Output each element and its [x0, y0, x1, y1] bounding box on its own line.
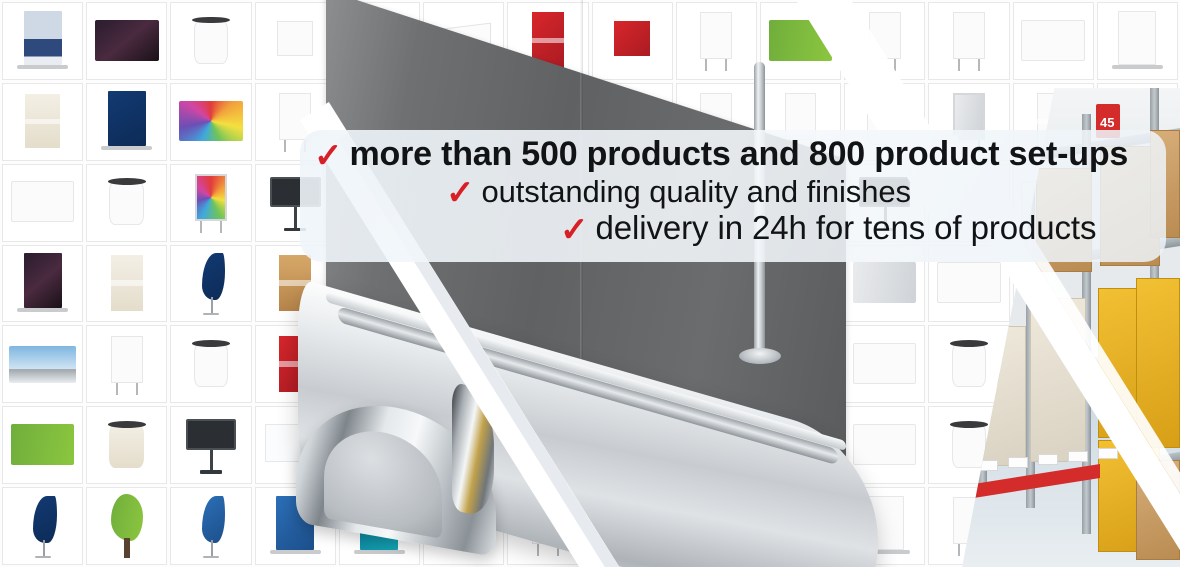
- product-tile-aircraft-backdrop-klm[interactable]: [2, 325, 83, 403]
- checkmark-icon-2: ✓: [446, 176, 475, 210]
- checkmark-icon-1: ✓: [314, 139, 343, 173]
- product-tile-rotating-brochure-tower[interactable]: [86, 245, 167, 323]
- product-tile-curved-popup-sustainable[interactable]: [170, 83, 251, 161]
- product-tile-white-podium-lectern[interactable]: [170, 325, 251, 403]
- product-thumbnail-colorwheel-poster-frame: [171, 165, 250, 241]
- pole-collar: [739, 348, 781, 364]
- product-tile-promo-counter-yellow-leaf[interactable]: [86, 406, 167, 484]
- headline-text-2: outstanding quality and finishes: [482, 176, 911, 209]
- product-thumbnail-aircraft-backdrop-klm: [3, 326, 82, 402]
- product-tile-roll-up-banner-airline-crew[interactable]: [2, 2, 83, 80]
- promotional-banner-stage: 45 ✓ more than 500 products and 800 prod…: [0, 0, 1180, 567]
- product-thumbnail-promo-counter-yellow-leaf: [87, 407, 166, 483]
- product-thumbnail-brochure-holder-tower: [3, 84, 82, 160]
- product-tile-roll-up-concert-poster[interactable]: [2, 245, 83, 323]
- product-tile-pop-up-wall-dark-galaxy[interactable]: [86, 2, 167, 80]
- product-thumbnail-promo-counter-white-round: [171, 3, 250, 79]
- product-thumbnail-feather-flag-blue-white: [171, 488, 250, 564]
- headline-text-1: more than 500 products and 800 product s…: [350, 136, 1129, 172]
- product-thumbnail-light-box-frame: [929, 3, 1008, 79]
- product-thumbnail-rotating-brochure-tower: [87, 246, 166, 322]
- product-tile-banner-stand-plain[interactable]: [1097, 2, 1178, 80]
- product-tile-tree-shaped-display-green[interactable]: [86, 487, 167, 565]
- product-thumbnail-roll-up-concert-poster: [3, 246, 82, 322]
- product-thumbnail-pop-up-wall-dark-galaxy: [87, 3, 166, 79]
- shelf-price-tag: [1068, 451, 1088, 462]
- shelf-price-tag: [1098, 448, 1118, 459]
- product-tile-teardrop-flag-navy[interactable]: [170, 245, 251, 323]
- product-tile-brochure-holder-tower[interactable]: [2, 83, 83, 161]
- headline-line-3: ✓ delivery in 24h for tens of products: [560, 211, 1150, 246]
- product-tile-curved-popup-bank-photo[interactable]: [2, 164, 83, 242]
- product-thumbnail-framed-graphic-pastel: [87, 326, 166, 402]
- product-thumbnail-banner-stand-plain: [1098, 3, 1177, 79]
- product-thumbnail-tv-floor-stand-black: [171, 407, 250, 483]
- product-thumbnail-roll-up-banner-airline-crew: [3, 3, 82, 79]
- checkmark-icon-3: ✓: [560, 213, 589, 247]
- product-thumbnail-fabric-wall-plain: [1014, 3, 1093, 79]
- product-thumbnail-teardrop-flag-navy: [171, 246, 250, 322]
- headline-line-2: ✓ outstanding quality and finishes: [446, 174, 1150, 209]
- product-tile-feather-flag-blue-white[interactable]: [170, 487, 251, 565]
- product-thumbnail-teardrop-flag-blue-small: [3, 488, 82, 564]
- product-tile-fabric-wall-plain[interactable]: [1013, 2, 1094, 80]
- product-thumbnail-angelli-promo-counter: [87, 165, 166, 241]
- product-thumbnail-white-podium-lectern: [171, 326, 250, 402]
- product-tile-roll-up-arctic-navy[interactable]: [86, 83, 167, 161]
- product-thumbnail-curved-popup-sustainable: [171, 84, 250, 160]
- product-tile-promo-counter-white-round[interactable]: [170, 2, 251, 80]
- product-thumbnail-pop-up-wall-green-powen: [3, 407, 82, 483]
- headline-text-3: delivery in 24h for tens of products: [596, 211, 1097, 246]
- headline-line-1: ✓ more than 500 products and 800 product…: [314, 136, 1150, 172]
- product-tile-framed-graphic-pastel[interactable]: [86, 325, 167, 403]
- product-tile-tv-floor-stand-black[interactable]: [170, 406, 251, 484]
- aisle-number-label: 45: [1100, 116, 1114, 129]
- product-tile-angelli-promo-counter[interactable]: [86, 164, 167, 242]
- headline-panel: ✓ more than 500 products and 800 product…: [300, 130, 1166, 262]
- product-thumbnail-roll-up-arctic-navy: [87, 84, 166, 160]
- product-thumbnail-tree-shaped-display-green: [87, 488, 166, 564]
- shelf-price-tag: [1008, 457, 1028, 468]
- product-tile-teardrop-flag-blue-small[interactable]: [2, 487, 83, 565]
- shelf-price-tag: [1038, 454, 1058, 465]
- product-thumbnail-curved-popup-bank-photo: [3, 165, 82, 241]
- product-tile-colorwheel-poster-frame[interactable]: [170, 164, 251, 242]
- product-tile-pop-up-wall-green-powen[interactable]: [2, 406, 83, 484]
- product-tile-light-box-frame[interactable]: [928, 2, 1009, 80]
